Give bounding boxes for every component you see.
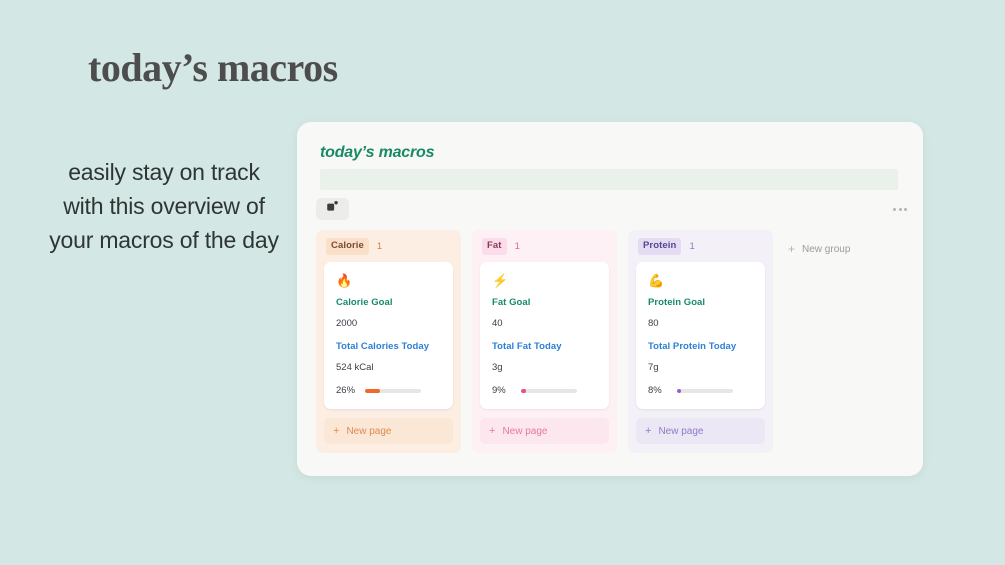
new-page-button[interactable]: + New page <box>324 418 453 444</box>
goal-label: Calorie Goal <box>336 297 441 309</box>
lightning-bolt-emoji: ⚡ <box>492 273 597 288</box>
board-container: Calorie 1 🔥 Calorie Goal 2000 Total Calo… <box>316 230 923 453</box>
page-title: today’s macros <box>88 44 338 91</box>
new-page-label: New page <box>502 426 547 437</box>
total-value: 3g <box>492 362 597 374</box>
dot-icon <box>899 208 902 211</box>
progress-percent: 26% <box>336 385 358 396</box>
column-header: Fat 1 <box>480 238 609 255</box>
total-value: 524 kCal <box>336 362 441 374</box>
progress-bar <box>521 389 577 393</box>
goal-label: Fat Goal <box>492 297 597 309</box>
notion-panel: today’s macros Calorie 1 🔥 <box>297 122 923 476</box>
macro-card[interactable]: 💪 Protein Goal 80 Total Protein Today 7g… <box>636 262 765 409</box>
plus-icon: + <box>788 242 795 256</box>
panel-title: today’s macros <box>320 144 434 162</box>
dot-icon <box>904 208 907 211</box>
macro-card[interactable]: 🔥 Calorie Goal 2000 Total Calories Today… <box>324 262 453 409</box>
board-view-tab[interactable] <box>316 198 349 220</box>
total-value: 7g <box>648 362 753 374</box>
fire-emoji: 🔥 <box>336 273 441 288</box>
column-count: 1 <box>377 241 382 252</box>
column-header: Calorie 1 <box>324 238 453 255</box>
progress-row: 8% <box>648 385 753 396</box>
status-badge[interactable]: Protein <box>638 238 681 255</box>
column-header: Protein 1 <box>636 238 765 255</box>
board-column-protein: Protein 1 💪 Protein Goal 80 Total Protei… <box>628 230 773 453</box>
status-badge[interactable]: Fat <box>482 238 507 255</box>
total-label: Total Protein Today <box>648 341 753 353</box>
progress-percent: 8% <box>648 385 670 396</box>
new-page-label: New page <box>346 426 391 437</box>
progress-fill <box>365 389 380 393</box>
page-subtitle: easily stay on track with this overview … <box>48 155 280 257</box>
progress-row: 9% <box>492 385 597 396</box>
board-column-calorie: Calorie 1 🔥 Calorie Goal 2000 Total Calo… <box>316 230 461 453</box>
column-count: 1 <box>515 241 520 252</box>
new-page-label: New page <box>658 426 703 437</box>
goal-value: 2000 <box>336 318 441 330</box>
panel-accent-bar <box>320 169 898 190</box>
more-options-button[interactable] <box>891 201 909 217</box>
progress-bar <box>365 389 421 393</box>
progress-row: 26% <box>336 385 441 396</box>
goal-label: Protein Goal <box>648 297 753 309</box>
goal-value: 80 <box>648 318 753 330</box>
status-badge[interactable]: Calorie <box>326 238 369 255</box>
new-group-label: New group <box>802 244 850 255</box>
progress-fill <box>521 389 526 393</box>
total-label: Total Fat Today <box>492 341 597 353</box>
goal-value: 40 <box>492 318 597 330</box>
plus-icon: + <box>333 426 339 437</box>
progress-bar <box>677 389 733 393</box>
plus-icon: + <box>645 426 651 437</box>
macro-card[interactable]: ⚡ Fat Goal 40 Total Fat Today 3g 9% <box>480 262 609 409</box>
flexed-biceps-emoji: 💪 <box>648 273 753 288</box>
total-label: Total Calories Today <box>336 341 441 353</box>
plus-icon: + <box>489 426 495 437</box>
board-column-fat: Fat 1 ⚡ Fat Goal 40 Total Fat Today 3g 9… <box>472 230 617 453</box>
board-view-icon <box>326 200 339 218</box>
column-count: 1 <box>689 241 694 252</box>
dot-icon <box>893 208 896 211</box>
new-page-button[interactable]: + New page <box>636 418 765 444</box>
panel-toolbar <box>316 198 909 222</box>
new-page-button[interactable]: + New page <box>480 418 609 444</box>
progress-fill <box>677 389 681 393</box>
progress-percent: 9% <box>492 385 514 396</box>
new-group-button[interactable]: + New group <box>788 240 850 258</box>
